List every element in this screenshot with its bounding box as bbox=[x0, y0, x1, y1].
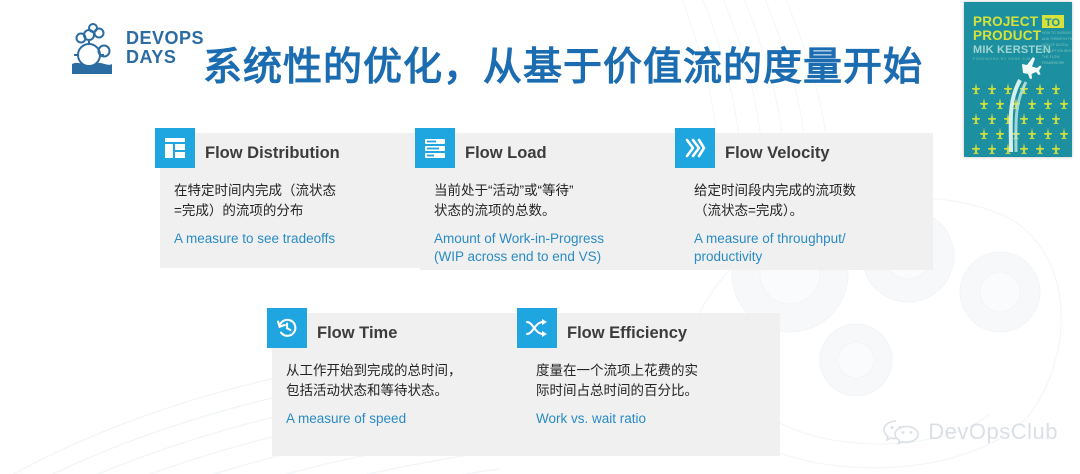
card-flow-velocity: Flow Velocity 给定时间段内完成的流项数 （流状态=完成）。 A m… bbox=[680, 133, 933, 270]
logo-line-2: DAYS bbox=[126, 48, 204, 67]
card-title: Flow Time bbox=[317, 313, 397, 353]
stacked-bars-icon bbox=[415, 128, 455, 168]
svg-text:MIK KERSTEN: MIK KERSTEN bbox=[973, 44, 1051, 56]
card-note-text: A measure to see tradeoffs bbox=[160, 220, 430, 262]
card-header: Flow Velocity bbox=[680, 133, 933, 173]
svg-text:HOW TO SURVIVE: HOW TO SURVIVE bbox=[1042, 31, 1072, 35]
card-body-text: 从工作开始到完成的总时间， 包括活动状态和等待状态。 bbox=[272, 353, 530, 400]
svg-text:AGE OF DIGITAL: AGE OF DIGITAL bbox=[1042, 43, 1069, 47]
svg-text:PRODUCT: PRODUCT bbox=[973, 28, 1042, 43]
card-flow-distribution: Flow Distribution 在特定时间内完成（流状态 =完成）的流项的分… bbox=[160, 133, 430, 268]
dashboard-layout-icon bbox=[155, 128, 195, 168]
card-note-text: Work vs. wait ratio bbox=[522, 400, 780, 442]
card-flow-time: Flow Time 从工作开始到完成的总时间， 包括活动状态和等待状态。 A m… bbox=[272, 313, 530, 456]
card-title: Flow Efficiency bbox=[567, 313, 687, 353]
svg-text:DISRUPTION WITH: DISRUPTION WITH bbox=[1042, 49, 1072, 53]
svg-text:TO: TO bbox=[1045, 17, 1061, 29]
chevrons-right-icon bbox=[675, 128, 715, 168]
card-note-text: A measure of throughput/ productivity bbox=[680, 220, 933, 280]
card-header: Flow Load bbox=[420, 133, 690, 173]
devopsdays-gear-logo-icon bbox=[68, 22, 116, 74]
svg-text:PROJECT: PROJECT bbox=[973, 14, 1039, 29]
card-body-text: 给定时间段内完成的流项数 （流状态=完成）。 bbox=[680, 173, 933, 220]
card-header: Flow Efficiency bbox=[522, 313, 780, 353]
card-note-text: Amount of Work-in-Progress (WIP across e… bbox=[420, 220, 690, 280]
svg-text:THE FLOW: THE FLOW bbox=[1042, 55, 1060, 59]
svg-text:AND THRIVE IN THE: AND THRIVE IN THE bbox=[1042, 37, 1072, 41]
card-body-text: 在特定时间内完成（流状态 =完成）的流项的分布 bbox=[160, 173, 430, 220]
clock-history-icon bbox=[267, 308, 307, 348]
book-cover-project-to-product: PROJECT PRODUCT TO MIK KERSTEN HOW TO SU… bbox=[964, 2, 1072, 157]
devopsdays-logo: DEVOPS DAYS bbox=[68, 22, 204, 74]
devopsclub-watermark: DevOpsClub bbox=[883, 418, 1058, 446]
card-note-text: A measure of speed bbox=[272, 400, 530, 442]
page-title: 系统性的优化，从基于价值流的度量开始 bbox=[203, 36, 923, 92]
card-title: Flow Load bbox=[465, 133, 547, 173]
card-body-text: 当前处于“活动”或“等待” 状态的流项的总数。 bbox=[420, 173, 690, 220]
wechat-icon bbox=[883, 418, 919, 446]
slide-canvas: DEVOPS DAYS 系统性的优化，从基于价值流的度量开始 bbox=[0, 0, 1080, 474]
card-flow-load: Flow Load 当前处于“活动”或“等待” 状态的流项的总数。 Amount… bbox=[420, 133, 690, 270]
card-title: Flow Distribution bbox=[205, 133, 340, 173]
devopsdays-logo-text: DEVOPS DAYS bbox=[126, 29, 204, 68]
card-body-text: 度量在一个流项上花费的实 际时间占总时间的百分比。 bbox=[522, 353, 780, 400]
card-title: Flow Velocity bbox=[725, 133, 830, 173]
svg-text:FRAMEWORK: FRAMEWORK bbox=[1042, 61, 1065, 65]
card-header: Flow Time bbox=[272, 313, 530, 353]
svg-text:FOREWORD BY GENE KIM: FOREWORD BY GENE KIM bbox=[973, 57, 1031, 61]
watermark-label: DevOpsClub bbox=[928, 419, 1058, 445]
card-header: Flow Distribution bbox=[160, 133, 430, 173]
shuffle-arrows-icon bbox=[517, 308, 557, 348]
logo-line-1: DEVOPS bbox=[126, 29, 204, 48]
card-flow-efficiency: Flow Efficiency 度量在一个流项上花费的实 际时间占总时间的百分比… bbox=[522, 313, 780, 456]
book-cover-art: PROJECT PRODUCT TO MIK KERSTEN HOW TO SU… bbox=[964, 2, 1072, 157]
